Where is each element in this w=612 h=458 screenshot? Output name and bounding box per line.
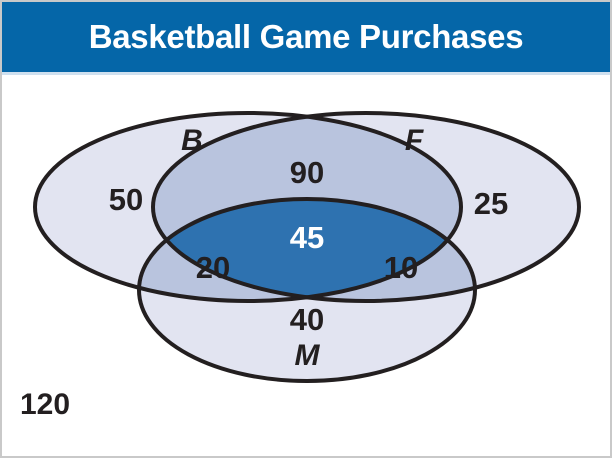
count-m-only: 40 bbox=[290, 302, 324, 337]
venn-svg: B F M 50 25 90 45 20 10 40 bbox=[2, 75, 610, 456]
count-b-only: 50 bbox=[109, 182, 143, 217]
count-b-and-m: 20 bbox=[196, 250, 230, 285]
count-f-and-m: 10 bbox=[384, 250, 418, 285]
set-label-b: B bbox=[181, 124, 203, 157]
set-label-m: M bbox=[295, 339, 321, 372]
venn-diagram: B F M 50 25 90 45 20 10 40 bbox=[2, 75, 610, 456]
count-all-three: 45 bbox=[290, 220, 324, 255]
count-b-and-f: 90 bbox=[290, 155, 324, 190]
count-f-only: 25 bbox=[474, 186, 508, 221]
figure-title-bar: Basketball Game Purchases bbox=[2, 2, 610, 72]
count-outside-all-sets: 120 bbox=[20, 388, 70, 422]
set-label-f: F bbox=[405, 124, 424, 157]
figure-frame: Basketball Game Purchases bbox=[0, 0, 612, 458]
figure-title: Basketball Game Purchases bbox=[89, 18, 524, 56]
